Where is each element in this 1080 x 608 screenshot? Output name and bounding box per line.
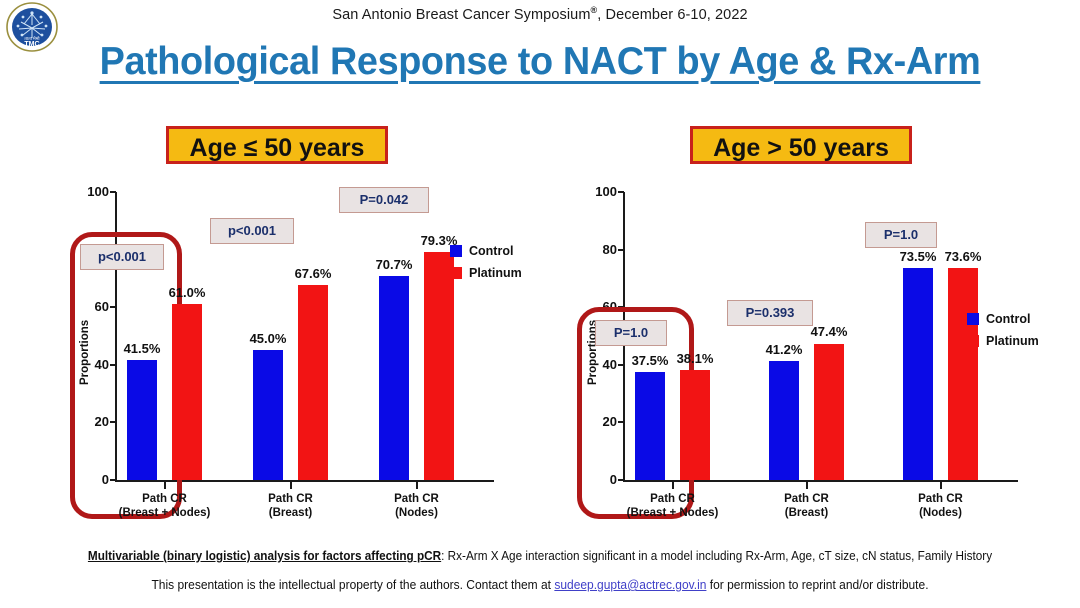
x-axis-category-label: Path CR(Breast + Nodes)	[608, 492, 738, 521]
bar-control[interactable]	[769, 361, 799, 480]
x-axis-category-label: Path CR(Nodes)	[352, 492, 482, 521]
panel-title-age-gt-50: Age > 50 years	[690, 126, 912, 164]
x-axis-tick-mark	[806, 482, 808, 489]
p-value-box: P=0.393	[727, 300, 813, 326]
legend-item-control[interactable]: Control	[450, 244, 522, 258]
bar-value-label: 45.0%	[243, 331, 293, 346]
category-label-line2: (Breast + Nodes)	[100, 506, 230, 520]
category-label-line1: Path CR	[876, 492, 1006, 506]
x-axis-tick-mark	[672, 482, 674, 489]
bar-platinum[interactable]	[298, 285, 328, 480]
x-axis-tick-mark	[164, 482, 166, 489]
bar-value-label: 67.6%	[288, 266, 338, 281]
chart-legend: ControlPlatinum	[967, 312, 1039, 356]
slide-canvas: ताता मेमो TMC San Antonio Breast Cancer …	[0, 0, 1080, 608]
bar-value-label: 41.5%	[117, 341, 167, 356]
x-axis-category-label: Path CR(Breast + Nodes)	[100, 492, 230, 521]
category-label-line2: (Nodes)	[876, 506, 1006, 520]
legend-item-control[interactable]: Control	[967, 312, 1039, 326]
footer-credit-pre: This presentation is the intellectual pr…	[151, 578, 554, 592]
bar-chart-age-gt-50: Proportions02040608010037.5%38.1%Path CR…	[565, 192, 1065, 522]
x-axis-tick-mark	[940, 482, 942, 489]
contact-email-link[interactable]: sudeep.gupta@actrec.gov.in	[554, 578, 706, 592]
bar-value-label: 37.5%	[625, 353, 675, 368]
legend-item-platinum[interactable]: Platinum	[967, 334, 1039, 348]
p-value-box: P=1.0	[865, 222, 937, 248]
y-axis-tick-label: 80	[583, 242, 617, 257]
p-value-box: P=1.0	[595, 320, 667, 346]
bar-control[interactable]	[903, 268, 933, 480]
chart-panel-age-gt-50: Age > 50 years Proportions02040608010037…	[565, 126, 1065, 546]
bar-value-label: 73.5%	[893, 249, 943, 264]
bar-control[interactable]	[379, 276, 409, 480]
category-label-line1: Path CR	[226, 492, 356, 506]
bar-value-label: 73.6%	[938, 249, 988, 264]
bar-value-label: 41.2%	[759, 342, 809, 357]
symposium-text-pre: San Antonio Breast Cancer Symposium	[332, 7, 590, 23]
legend-swatch-icon	[967, 335, 979, 347]
chart-panel-age-le-50: Age ≤ 50 years Proportions02040608010041…	[62, 126, 532, 546]
y-axis-tick-mark	[618, 249, 624, 251]
bar-value-label: 70.7%	[369, 257, 419, 272]
legend-swatch-icon	[450, 245, 462, 257]
footer-analysis-note: Multivariable (binary logistic) analysis…	[32, 549, 1047, 563]
x-axis-category-label: Path CR(Breast)	[742, 492, 872, 521]
category-label-line2: (Nodes)	[352, 506, 482, 520]
category-label-line1: Path CR	[352, 492, 482, 506]
highlight-callout-box	[70, 232, 182, 519]
legend-item-platinum[interactable]: Platinum	[450, 266, 522, 280]
footer-note-underlined: Multivariable (binary logistic) analysis…	[88, 549, 441, 563]
category-label-line2: (Breast)	[742, 506, 872, 520]
y-axis-tick-mark	[618, 191, 624, 193]
bar-platinum[interactable]	[814, 344, 844, 481]
legend-label: Control	[469, 244, 513, 258]
x-axis-category-label: Path CR(Breast)	[226, 492, 356, 521]
p-value-box: p<0.001	[210, 218, 294, 244]
panel-title-age-le-50: Age ≤ 50 years	[166, 126, 388, 164]
footer-credit-post: for permission to reprint and/or distrib…	[706, 578, 928, 592]
bar-chart-age-le-50: Proportions02040608010041.5%61.0%Path CR…	[62, 192, 532, 522]
legend-swatch-icon	[450, 267, 462, 279]
category-label-line1: Path CR	[100, 492, 230, 506]
legend-label: Platinum	[986, 334, 1039, 348]
bar-control[interactable]	[253, 350, 283, 480]
bar-platinum[interactable]	[680, 370, 710, 480]
x-axis-tick-mark	[290, 482, 292, 489]
bar-control[interactable]	[127, 360, 157, 480]
x-axis-tick-mark	[416, 482, 418, 489]
bar-value-label: 38.1%	[670, 351, 720, 366]
y-axis-tick-label: 100	[75, 184, 109, 199]
chart-legend: ControlPlatinum	[450, 244, 522, 288]
x-axis-category-label: Path CR(Nodes)	[876, 492, 1006, 521]
page-title: Pathological Response to NACT by Age & R…	[16, 42, 1064, 83]
category-label-line2: (Breast)	[226, 506, 356, 520]
p-value-box: p<0.001	[80, 244, 164, 270]
category-label-line1: Path CR	[742, 492, 872, 506]
legend-label: Platinum	[469, 266, 522, 280]
bar-control[interactable]	[635, 372, 665, 480]
category-label-line2: (Breast + Nodes)	[608, 506, 738, 520]
footer-note-rest: : Rx-Arm X Age interaction significant i…	[441, 549, 992, 563]
p-value-box: P=0.042	[339, 187, 429, 213]
bar-platinum[interactable]	[172, 304, 202, 480]
y-axis-tick-mark	[110, 191, 116, 193]
bar-value-label: 47.4%	[804, 324, 854, 339]
bar-platinum[interactable]	[948, 268, 978, 480]
y-axis-tick-label: 100	[583, 184, 617, 199]
legend-label: Control	[986, 312, 1030, 326]
category-label-line1: Path CR	[608, 492, 738, 506]
footer-credit: This presentation is the intellectual pr…	[22, 578, 1059, 592]
legend-swatch-icon	[967, 313, 979, 325]
symposium-text-post: , December 6-10, 2022	[597, 7, 747, 23]
bar-value-label: 61.0%	[162, 285, 212, 300]
symposium-line: San Antonio Breast Cancer Symposium®, De…	[0, 5, 1080, 23]
